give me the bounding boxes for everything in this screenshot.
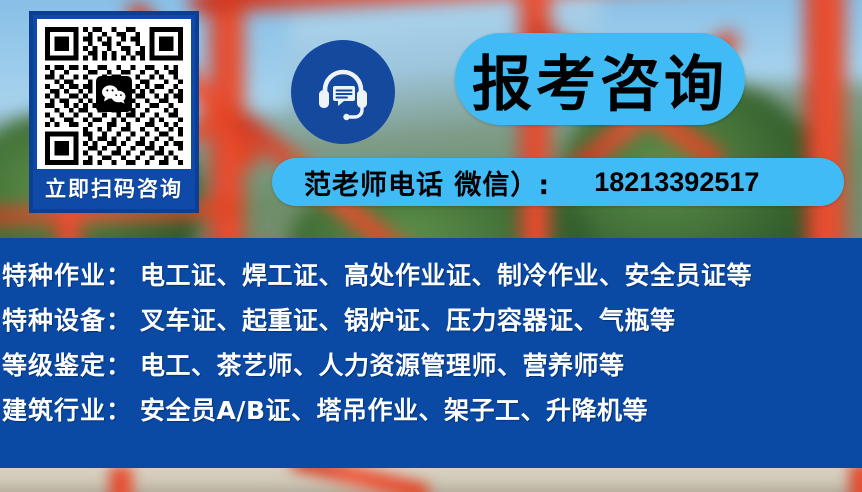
qr-code-image[interactable] — [37, 19, 191, 169]
category-row-construction-industry: 建筑行业 ： 安全员A/B证、塔吊作业、架子工、升降机等 — [0, 391, 862, 436]
category-row-special-equipment: 特种设备 ： 叉车证、起重证、锅炉证、压力容器证、气瓶等 — [0, 301, 862, 346]
phone-pill[interactable]: 范老师电话 微信）: 18213392517 — [272, 158, 844, 206]
category-colon: ： — [106, 256, 140, 292]
category-value: 电工、茶艺师、人力资源管理师、营养师等 — [140, 346, 625, 382]
category-colon: ： — [106, 346, 140, 382]
headset-chat-icon — [291, 40, 395, 144]
qr-code-card[interactable]: 立即扫码咨询 — [29, 11, 199, 213]
phone-pill-label: 范老师电话 微信）: — [304, 163, 550, 202]
phone-number[interactable]: 18213392517 — [594, 167, 759, 198]
title-pill-label: 报考咨询 — [472, 36, 728, 123]
category-value: 电工证、焊工证、高处作业证、制冷作业、安全员证等 — [140, 256, 752, 292]
category-row-special-operations: 特种作业 ： 电工证、焊工证、高处作业证、制冷作业、安全员证等 — [0, 256, 862, 301]
category-label: 特种作业 — [2, 256, 106, 292]
category-value: 叉车证、起重证、锅炉证、压力容器证、气瓶等 — [140, 301, 676, 337]
course-categories-band: 特种作业 ： 电工证、焊工证、高处作业证、制冷作业、安全员证等 特种设备 ： 叉… — [0, 238, 862, 468]
category-row-grade-assessment: 等级鉴定 ： 电工、茶艺师、人力资源管理师、营养师等 — [0, 346, 862, 391]
category-colon: ： — [106, 301, 140, 337]
qr-card-caption: 立即扫码咨询 — [45, 169, 183, 209]
category-colon: ： — [106, 391, 140, 427]
promo-poster: 立即扫码咨询 报考咨询 范老师电话 微信）: 1821339 — [0, 0, 862, 492]
category-label: 等级鉴定 — [2, 346, 106, 382]
wechat-icon — [96, 76, 132, 112]
bottom-photo-strip — [0, 468, 862, 492]
category-label: 建筑行业 — [2, 391, 106, 427]
category-value: 安全员A/B证、塔吊作业、架子工、升降机等 — [140, 391, 648, 427]
bottom-blur-layer — [0, 468, 862, 492]
title-pill: 报考咨询 — [455, 33, 745, 125]
category-label: 特种设备 — [2, 301, 106, 337]
